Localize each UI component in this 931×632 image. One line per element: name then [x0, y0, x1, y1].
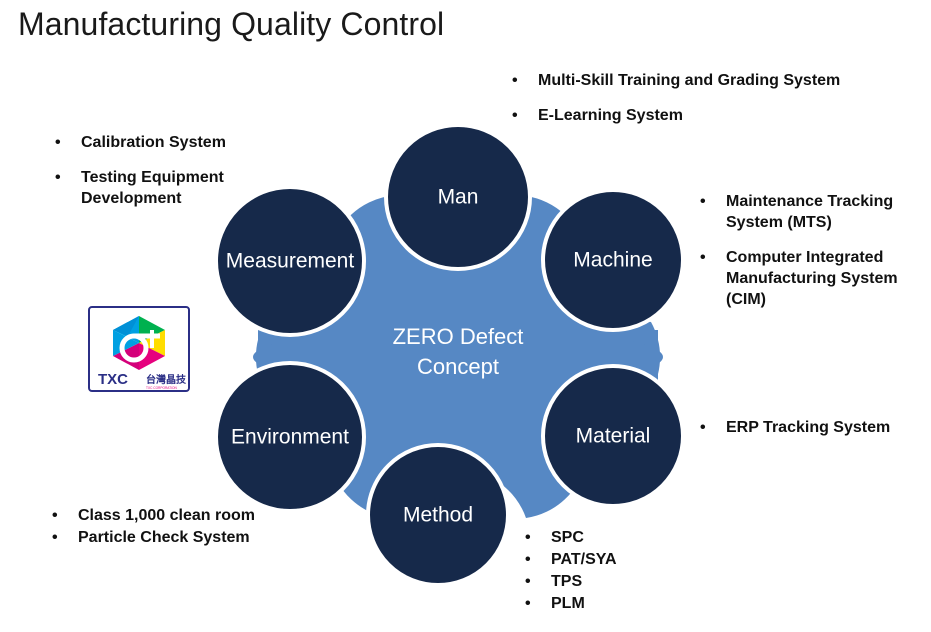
bullet-item: • PAT/SYA: [525, 549, 725, 570]
node-measurement-label: Measurement: [226, 250, 355, 273]
bullet-dot-icon: •: [512, 105, 538, 126]
bullet-text: Multi-Skill Training and Grading System: [538, 70, 852, 91]
bullet-dot-icon: •: [525, 527, 551, 548]
bullet-text: Computer Integrated Manufacturing System…: [726, 247, 915, 310]
bullets-material: • ERP Tracking System: [700, 417, 925, 438]
bullet-text: PAT/SYA: [551, 549, 725, 570]
node-environment-label: Environment: [231, 426, 349, 449]
bullets-man: • Multi-Skill Training and Grading Syste…: [512, 70, 852, 126]
bullet-item: • TPS: [525, 571, 725, 592]
bullet-text: Class 1,000 clean room: [78, 505, 342, 526]
bullet-dot-icon: •: [700, 191, 726, 212]
bullet-item: • PLM: [525, 593, 725, 614]
bullet-dot-icon: •: [525, 549, 551, 570]
bullet-item: • SPC: [525, 527, 725, 548]
bullet-item: • Multi-Skill Training and Grading Syste…: [512, 70, 852, 91]
node-man-label: Man: [438, 186, 479, 209]
bullets-method: • SPC • PAT/SYA • TPS • PLM: [525, 527, 725, 615]
bullet-dot-icon: •: [52, 527, 78, 548]
bullet-dot-icon: •: [55, 167, 81, 188]
bullet-dot-icon: •: [52, 505, 78, 526]
bullets-machine: • Maintenance Tracking System (MTS) • Co…: [700, 191, 915, 311]
bullet-text: Calibration System: [81, 132, 315, 153]
bullet-dot-icon: •: [55, 132, 81, 153]
logo-subtitle-text: TXC CORPORATION: [146, 386, 177, 390]
bullet-item: • Computer Integrated Manufacturing Syst…: [700, 247, 915, 310]
bullet-item: • Particle Check System: [52, 527, 342, 548]
bullet-text: ERP Tracking System: [726, 417, 925, 438]
bullets-measurement: • Calibration System • Testing Equipment…: [55, 132, 315, 209]
bullet-item: • Maintenance Tracking System (MTS): [700, 191, 915, 233]
bullet-text: Testing Equipment Development: [81, 167, 315, 209]
bullets-environment: • Class 1,000 clean room • Particle Chec…: [52, 505, 342, 549]
bullet-text: TPS: [551, 571, 725, 592]
node-machine-label: Machine: [573, 249, 652, 272]
node-method-label: Method: [403, 504, 473, 527]
bullet-text: E-Learning System: [538, 105, 852, 126]
node-environment[interactable]: Environment: [216, 363, 364, 511]
logo-chinese-text: 台灣晶技: [146, 373, 187, 386]
bullet-item: • ERP Tracking System: [700, 417, 925, 438]
bullet-dot-icon: •: [700, 247, 726, 268]
bullet-item: • Testing Equipment Development: [55, 167, 315, 209]
bullet-text: Maintenance Tracking System (MTS): [726, 191, 915, 233]
bullet-dot-icon: •: [700, 417, 726, 438]
hub-label-line1: ZERO Defect: [393, 324, 524, 349]
bullet-item: • Class 1,000 clean room: [52, 505, 342, 526]
node-man[interactable]: Man: [386, 125, 530, 269]
node-material[interactable]: Material: [543, 366, 683, 506]
bullet-text: Particle Check System: [78, 527, 342, 548]
logo-brand-text: TXC: [98, 371, 128, 388]
bullet-text: PLM: [551, 593, 725, 614]
bullet-dot-icon: •: [525, 593, 551, 614]
bullet-dot-icon: •: [525, 571, 551, 592]
node-material-label: Material: [576, 425, 651, 448]
node-machine[interactable]: Machine: [543, 190, 683, 330]
node-method[interactable]: Method: [368, 445, 508, 585]
bullet-text: SPC: [551, 527, 725, 548]
txc-logo: TXC 台灣晶技 TXC CORPORATION: [88, 306, 190, 392]
bullet-item: • Calibration System: [55, 132, 315, 153]
bullet-dot-icon: •: [512, 70, 538, 91]
bullet-item: • E-Learning System: [512, 105, 852, 126]
hub-label-line2: Concept: [417, 354, 499, 379]
